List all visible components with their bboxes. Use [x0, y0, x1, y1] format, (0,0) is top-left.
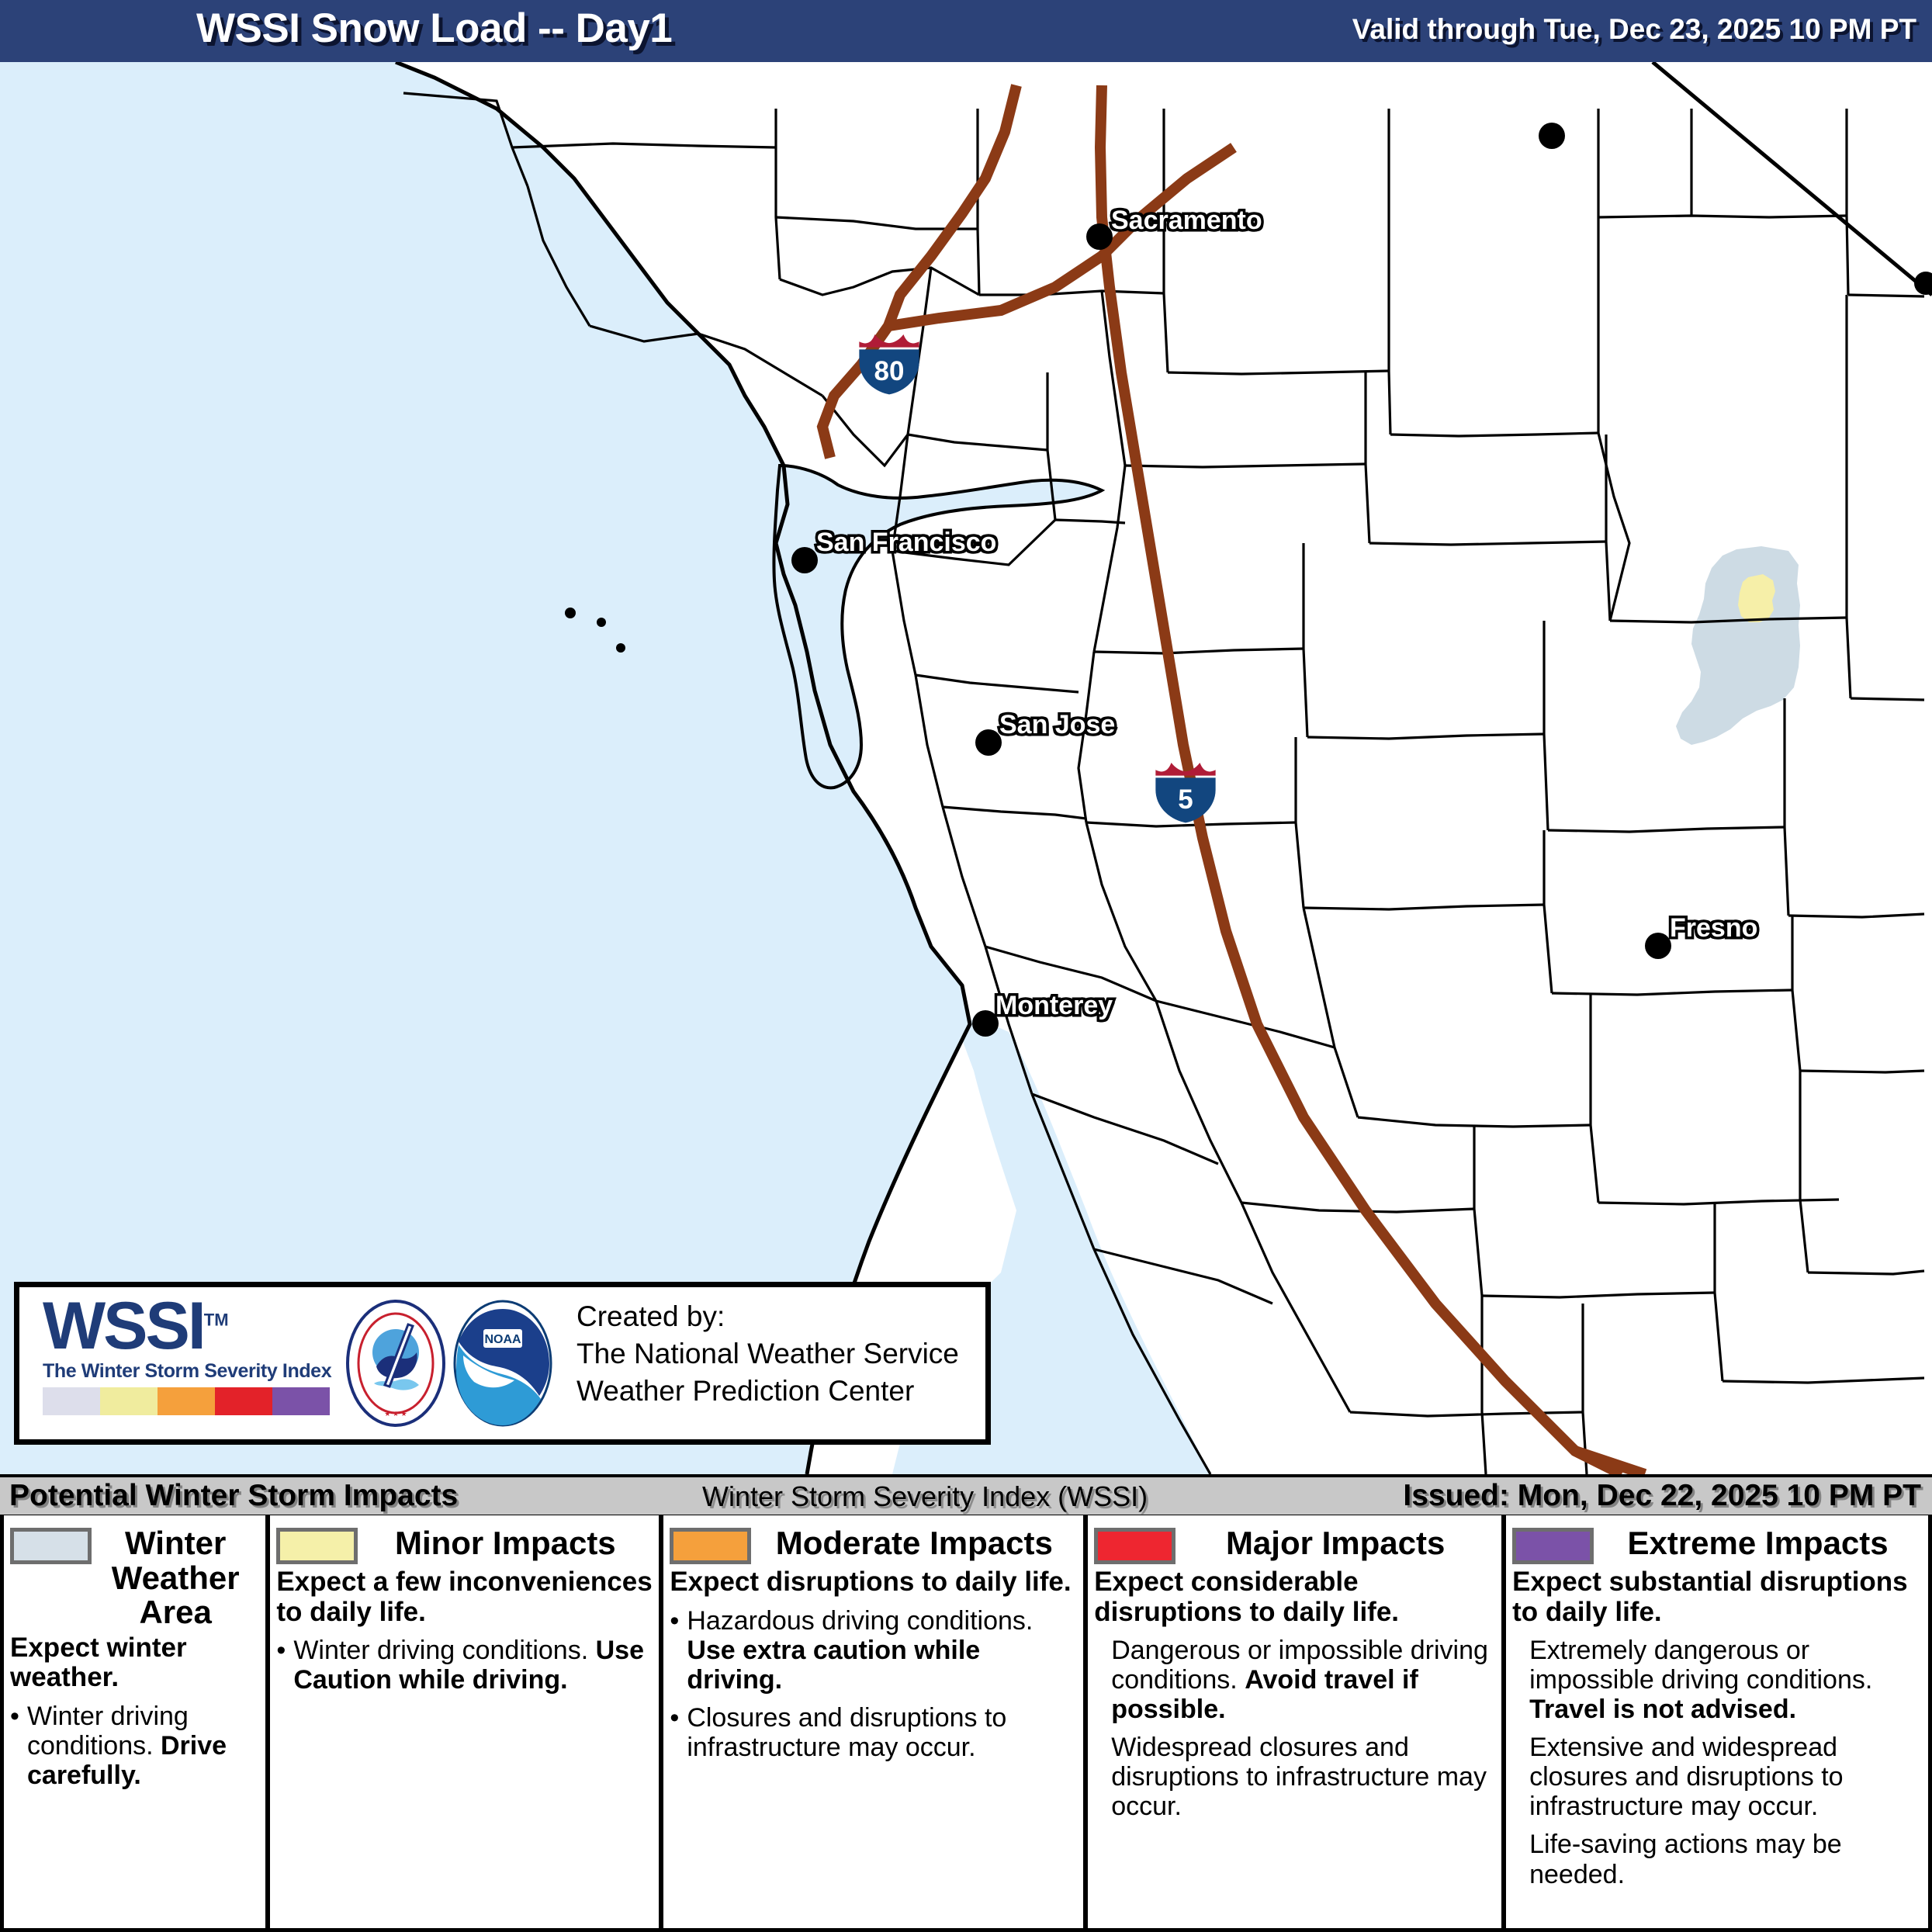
legend-column-major-impacts[interactable]: Major Impacts Expect considerable disrup… — [1083, 1515, 1501, 1928]
legend-item: • Closures and disruptions to infrastruc… — [670, 1703, 1077, 1762]
city-dot-sacramento — [1086, 223, 1113, 250]
legend-swatch-winter-weather-area — [10, 1528, 92, 1564]
wssi-wordmark: WSSITM — [43, 1295, 353, 1359]
legend-header: Major Impacts — [1094, 1526, 1495, 1564]
legend-item-text: Extensive and widespread closures and di… — [1529, 1733, 1922, 1821]
legend-title-minor-impacts: Minor Impacts — [358, 1526, 653, 1561]
bullet-marker: • — [276, 1636, 293, 1695]
legend-summary-moderate-impacts: Expect disruptions to daily life. — [670, 1567, 1077, 1598]
legend-title-extreme-impacts: Extreme Impacts — [1594, 1526, 1922, 1561]
legend-title-moderate-impacts: Moderate Impacts — [751, 1526, 1077, 1561]
island-1 — [565, 608, 576, 618]
legend-header: Minor Impacts — [276, 1526, 653, 1564]
wssi-swatch-winter-weather — [43, 1387, 100, 1415]
city-dot-san-francisco — [791, 547, 818, 573]
wssi-swatch-moderate — [158, 1387, 215, 1415]
interstate-80-shield[interactable]: 80 — [853, 326, 925, 397]
legend-item: • Life-saving actions may be needed. — [1512, 1830, 1922, 1889]
legend-title-winter-weather-area: Winter Weather Area — [92, 1526, 259, 1630]
wssi-brand: WSSITM The Winter Storm Severity Index — [43, 1295, 353, 1415]
wssi-color-bar — [43, 1387, 330, 1415]
creator-credit: Created by: The National Weather Service… — [576, 1298, 959, 1410]
wssi-logo-box: WSSITM The Winter Storm Severity Index ★… — [14, 1282, 991, 1445]
noaa-label: NOAA — [484, 1333, 521, 1346]
island-3 — [616, 643, 625, 653]
bullet-marker: • — [670, 1703, 687, 1762]
city-label-san-jose: San Jose — [999, 710, 1115, 740]
bullet-marker: • — [10, 1702, 27, 1790]
legend-summary-extreme-impacts: Expect substantial disruptions to daily … — [1512, 1567, 1922, 1627]
valid-through-text: Valid through Tue, Dec 23, 2025 10 PM PT — [1352, 13, 1916, 46]
legend-swatch-extreme-impacts — [1512, 1528, 1594, 1564]
legend-item-text: Dangerous or impossible driving conditio… — [1111, 1636, 1495, 1724]
legend-item-text: Extremely dangerous or impossible drivin… — [1529, 1636, 1922, 1724]
wssi-swatch-extreme — [272, 1387, 330, 1415]
legend-item-text: Life-saving actions may be needed. — [1529, 1830, 1922, 1889]
legend-swatch-minor-impacts — [276, 1528, 358, 1564]
legend-item-text: Winter driving conditions. Use Caution w… — [293, 1636, 653, 1695]
wssi-snow-load-map-page: WSSI Snow Load -- Day1 Valid through Tue… — [0, 0, 1932, 1932]
legend-item: • Winter driving conditions. Use Caution… — [276, 1636, 653, 1695]
legend-summary-winter-weather-area: Expect winter weather. — [10, 1633, 259, 1693]
status-potential-impacts: Potential Winter Storm Impacts — [9, 1479, 458, 1513]
legend-summary-minor-impacts: Expect a few inconveniences to daily lif… — [276, 1567, 653, 1627]
page-title: WSSI Snow Load -- Day1 — [196, 5, 672, 52]
interstate-5-shield[interactable]: 5 — [1150, 754, 1221, 826]
map-graphic — [0, 62, 1932, 1474]
legend-item: • Dangerous or impossible driving condit… — [1094, 1636, 1495, 1724]
wssi-wordmark-text: WSSI — [43, 1289, 204, 1363]
legend-summary-major-impacts: Expect considerable disruptions to daily… — [1094, 1567, 1495, 1627]
credit-line-1: Created by: — [576, 1298, 959, 1335]
wssi-trademark: TM — [204, 1310, 229, 1329]
legend-header: Moderate Impacts — [670, 1526, 1077, 1564]
legend-item-text: Closures and disruptions to infrastructu… — [687, 1703, 1077, 1762]
city-label-sacramento: Sacramento — [1111, 206, 1262, 236]
header-bar: WSSI Snow Load -- Day1 Valid through Tue… — [0, 0, 1932, 62]
island-2 — [597, 618, 606, 627]
noaa-seal-icon: NOAA — [448, 1298, 558, 1428]
wssi-swatch-major — [215, 1387, 272, 1415]
credit-line-2: The National Weather Service — [576, 1335, 959, 1373]
legend-column-moderate-impacts[interactable]: Moderate Impacts Expect disruptions to d… — [659, 1515, 1083, 1928]
svg-text:80: 80 — [874, 356, 905, 386]
legend-swatch-moderate-impacts — [670, 1528, 751, 1564]
bullet-marker: • — [670, 1606, 687, 1695]
impact-legend: Winter Weather Area Expect winter weathe… — [0, 1515, 1932, 1932]
legend-item: • Winter driving conditions. Drive caref… — [10, 1702, 259, 1790]
city-dot-fresno — [1645, 933, 1671, 959]
svg-text:5: 5 — [1178, 784, 1193, 815]
status-bar: Potential Winter Storm Impacts Winter St… — [0, 1474, 1932, 1518]
city-dot-san-jose — [975, 729, 1002, 756]
city-label-monterey: Monterey — [995, 991, 1113, 1021]
city-label-fresno: Fresno — [1670, 913, 1757, 943]
city-dot-monterey — [972, 1010, 999, 1037]
svg-text:★ ★ ★: ★ ★ ★ — [384, 1410, 407, 1418]
legend-item-text: Widespread closures and disruptions to i… — [1111, 1733, 1495, 1821]
city-label-san-francisco: San Francisco — [816, 528, 996, 558]
legend-item: • Hazardous driving conditions. Use extr… — [670, 1606, 1077, 1695]
map-dot-top — [1539, 123, 1565, 149]
legend-item: • Extremely dangerous or impossible driv… — [1512, 1636, 1922, 1724]
status-issued-time: Issued: Mon, Dec 22, 2025 10 PM PT — [1403, 1479, 1921, 1513]
nws-seal-icon: ★ ★ ★ — [341, 1298, 450, 1428]
legend-title-major-impacts: Major Impacts — [1175, 1526, 1495, 1561]
legend-column-winter-weather-area[interactable]: Winter Weather Area Expect winter weathe… — [4, 1515, 265, 1928]
legend-item: • Widespread closures and disruptions to… — [1094, 1733, 1495, 1821]
status-wssi-subtitle: Winter Storm Severity Index (WSSI) — [702, 1480, 1148, 1513]
legend-item-text: Hazardous driving conditions. Use extra … — [687, 1606, 1077, 1695]
legend-header: Extreme Impacts — [1512, 1526, 1922, 1564]
legend-column-minor-impacts[interactable]: Minor Impacts Expect a few inconvenience… — [265, 1515, 659, 1928]
map-canvas[interactable]: 80 5 Sacramento San Francisco San Jose F… — [0, 62, 1932, 1474]
credit-line-3: Weather Prediction Center — [576, 1373, 959, 1410]
wssi-tagline: The Winter Storm Severity Index — [43, 1360, 353, 1383]
legend-header: Winter Weather Area — [10, 1526, 259, 1630]
legend-column-extreme-impacts[interactable]: Extreme Impacts Expect substantial disru… — [1501, 1515, 1928, 1928]
legend-item: • Extensive and widespread closures and … — [1512, 1733, 1922, 1821]
minor-impacts-polygon — [1738, 574, 1775, 622]
wssi-swatch-minor — [100, 1387, 158, 1415]
legend-swatch-major-impacts — [1094, 1528, 1175, 1564]
legend-item-text: Winter driving conditions. Drive careful… — [27, 1702, 259, 1790]
